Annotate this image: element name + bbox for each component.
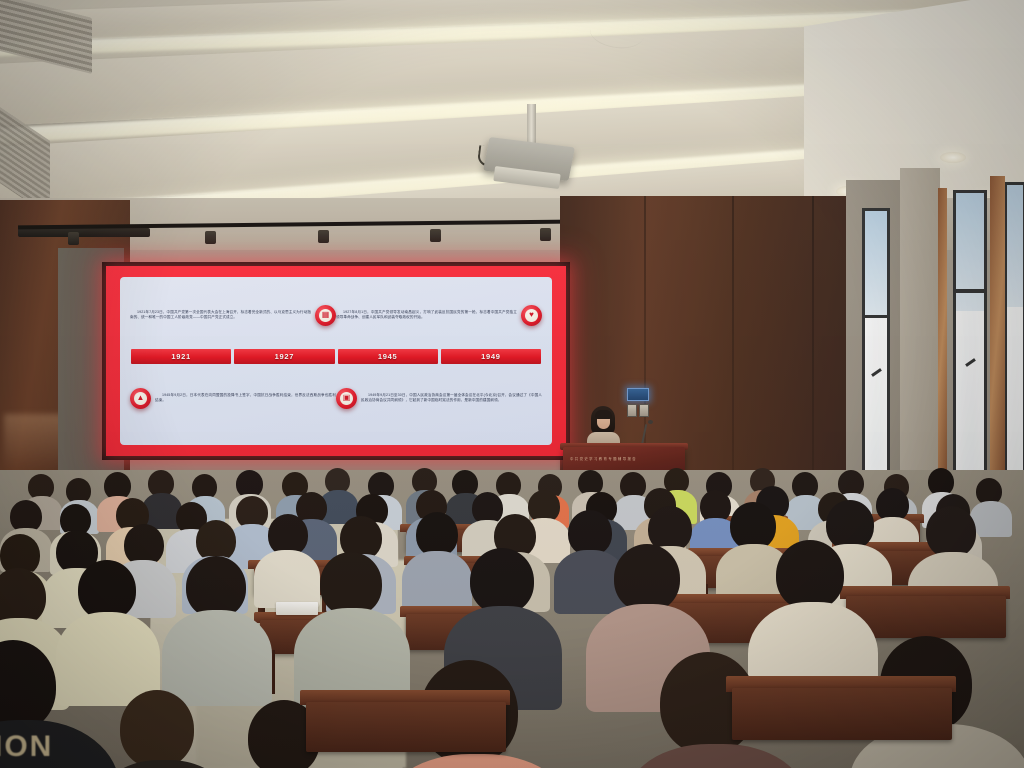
wall-control-panel[interactable] bbox=[627, 388, 649, 401]
wall-pillar bbox=[900, 168, 940, 504]
paper-sheet bbox=[276, 602, 318, 615]
presenter-fringe bbox=[595, 410, 612, 419]
track-light-head-icon bbox=[205, 231, 216, 244]
heart-badge-icon: ♥ bbox=[521, 305, 542, 326]
congress-badge-icon: ▦ bbox=[315, 305, 336, 326]
window bbox=[1004, 182, 1024, 492]
slide-block-1921: 1921年7月23日，中国共产党第一次全国代表大会在上海召开，标志着完全新式的、… bbox=[130, 305, 336, 326]
light-switch[interactable] bbox=[627, 404, 637, 417]
track-light-head-icon bbox=[430, 229, 441, 242]
track-light-head-icon bbox=[318, 230, 329, 243]
jacket-text: ION bbox=[0, 730, 53, 764]
badge-glyph: ▣ bbox=[340, 392, 353, 405]
victory-badge-icon: ▲ bbox=[130, 388, 151, 409]
badge-glyph: ♥ bbox=[525, 309, 538, 322]
timeline-year-1949[interactable]: 1949 bbox=[441, 349, 541, 364]
window-handle[interactable] bbox=[965, 358, 976, 367]
badge-glyph: ▲ bbox=[134, 392, 147, 405]
podium-front-text: 中共党史学习教育专题辅导报告 bbox=[570, 456, 678, 461]
timeline-year-1927[interactable]: 1927 bbox=[234, 349, 334, 364]
panel-seam bbox=[732, 196, 734, 496]
desk bbox=[732, 688, 952, 740]
wood-trim bbox=[938, 188, 947, 494]
presentation-slide[interactable]: 1921年7月23日，中国共产党第一次全国代表大会在上海召开，标志着完全新式的、… bbox=[120, 277, 552, 445]
timeline-bar: 1921 1927 1945 1949 bbox=[131, 349, 541, 364]
window-handle[interactable] bbox=[871, 368, 882, 377]
slide-text-1945: 1945年9月2日，日本代表在向同盟国的投降书上签字，中国抗日战争胜利结束，世界… bbox=[155, 393, 336, 404]
slide-block-1927: 1927年8月1日，中国共产党领导发动南昌起义，打响了武装反抗国民党的第一枪，标… bbox=[336, 305, 542, 326]
slide-block-1945: 1945年9月2日，日本代表在向同盟国的投降书上签字，中国抗日战争胜利结束，世界… bbox=[130, 388, 336, 409]
window-sky bbox=[865, 211, 887, 317]
track-light-head-icon bbox=[540, 228, 551, 241]
window-mullion bbox=[865, 315, 887, 318]
window bbox=[862, 208, 890, 480]
timeline-year-1921[interactable]: 1921 bbox=[131, 349, 231, 364]
slide-block-1949: 1949年9月21日至30日，中国人民政治协商会议第一届全体会议在北平(今北京)… bbox=[336, 388, 542, 409]
panel-seam bbox=[812, 196, 814, 496]
desk bbox=[306, 702, 506, 752]
slide-text-1927: 1927年8月1日，中国共产党领导发动南昌起义，打响了武装反抗国民党的第一枪，标… bbox=[336, 310, 517, 321]
conference-badge-icon: ▣ bbox=[336, 388, 357, 409]
light-switch[interactable] bbox=[639, 404, 649, 417]
timeline-year-1945[interactable]: 1945 bbox=[338, 349, 438, 364]
window-mullion bbox=[956, 289, 984, 293]
slide-row-top: 1921年7月23日，中国共产党第一次全国代表大会在上海召开，标志着完全新式的、… bbox=[130, 284, 542, 346]
badge-glyph: ▦ bbox=[319, 309, 332, 322]
microphone-icon bbox=[648, 420, 653, 424]
wood-trim bbox=[990, 176, 1005, 494]
slide-text-1949: 1949年9月21日至30日，中国人民政治协商会议第一届全体会议在北平(今北京)… bbox=[361, 393, 542, 404]
track-light-head-icon bbox=[68, 232, 79, 245]
downlight-icon bbox=[940, 152, 966, 163]
window-sky bbox=[1007, 185, 1023, 307]
lecture-hall-photo: 1921年7月23日，中国共产党第一次全国代表大会在上海召开，标志着完全新式的、… bbox=[0, 0, 1024, 768]
slide-row-bottom: 1945年9月2日，日本代表在向同盟国的投降书上签字，中国抗日战争胜利结束，世界… bbox=[130, 367, 542, 429]
track-light-rail bbox=[18, 228, 150, 237]
slide-text-1921: 1921年7月23日，中国共产党第一次全国代表大会在上海召开，标志着完全新式的、… bbox=[130, 310, 311, 321]
window bbox=[953, 190, 987, 490]
